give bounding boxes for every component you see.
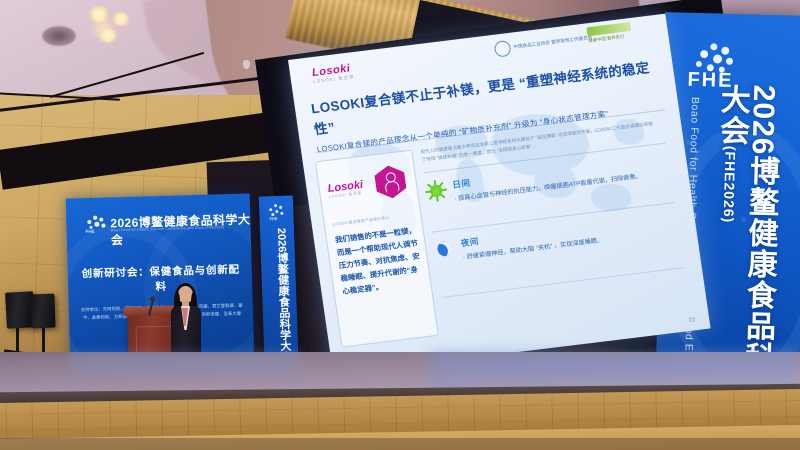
sun-icon: [425, 179, 448, 201]
ceiling-vent: [42, 26, 76, 46]
fhe-logo-text-left-screen: FHE: [86, 229, 95, 234]
presentation-slide: Losoki LOSOKI 复合镁 中国食品工业协会 营养指导工作委员会 健康中…: [288, 14, 711, 375]
floor-carpet: [0, 438, 800, 450]
ceiling-spotlight: [96, 28, 120, 43]
partner-logo-1: 中国食品工业协会 营养指导工作委员会: [494, 30, 594, 58]
ceiling-spotlight: [86, 6, 112, 23]
moon-icon: [433, 238, 456, 260]
ceiling-spotlight: [110, 12, 132, 26]
projection-screen-main: Losoki LOSOKI 复合镁 中国食品工业协会 营养指导工作委员会 健康中…: [288, 14, 712, 387]
card-body-text: 我们销售的不是一粒镁，而是一个帮助现代人调节压力节奏、对抗焦虑、安稳睡眠、提升代…: [334, 225, 425, 299]
security-camera: [243, 60, 250, 69]
hexagon-badge-icon: [373, 164, 407, 200]
session-title: 创新研讨会：保健食品与创新配料: [80, 262, 243, 297]
fhe-logo-icon-small: [268, 204, 284, 217]
partner-logo-1-text: 中国食品工业协会 营养指导工作委员会: [513, 35, 593, 51]
photo-scene: FHE Boao Food for Health Science Confere…: [0, 0, 800, 450]
stage-floor-reflection-left: [70, 352, 300, 386]
slide-page-number: 23: [688, 317, 695, 324]
pa-speaker: [30, 294, 55, 329]
partner-logo-2: 健康中国 营养先行: [586, 22, 632, 44]
partner-seal-icon: [494, 40, 512, 58]
fhe-logo-text-small: FHE: [269, 216, 277, 221]
